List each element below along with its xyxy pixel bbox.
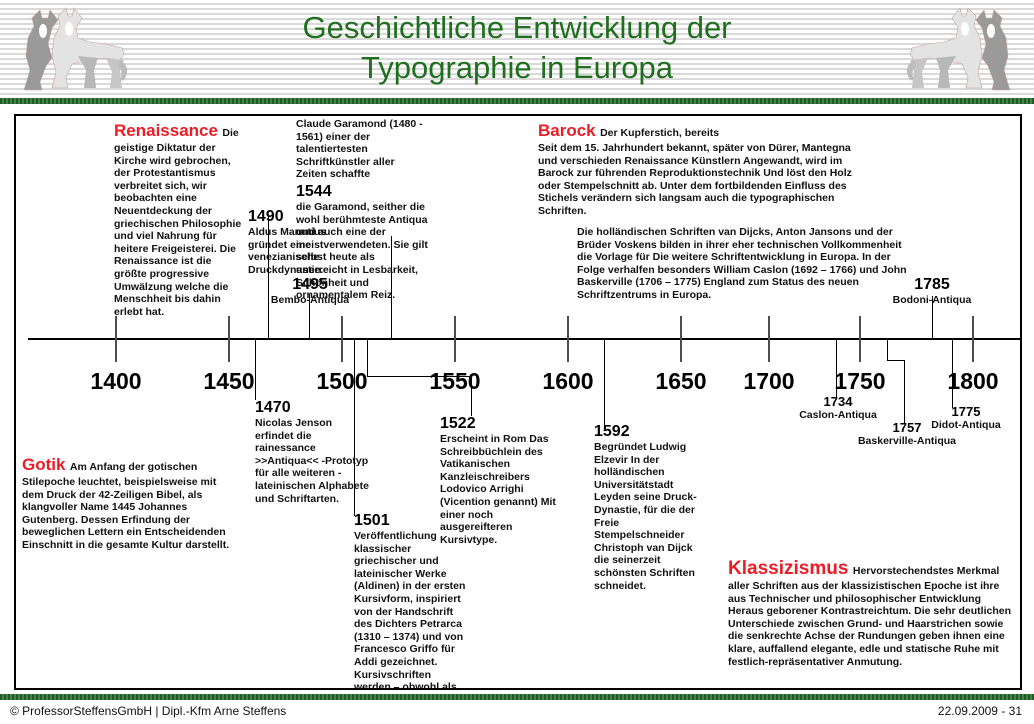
era-body-klassizismus: aller Schriften aus der klassizistischen… bbox=[728, 580, 1018, 668]
event-year-1470: 1470 bbox=[255, 399, 371, 417]
connector-1470 bbox=[255, 338, 256, 400]
connector-1522-stem bbox=[367, 338, 368, 376]
era-body-barock: Seit dem 15. Jahrhundert bekannt, später… bbox=[538, 142, 858, 218]
footer-copyright: © ProfessorSteffensGmbH | Dipl.-Kfm Arne… bbox=[10, 704, 286, 718]
event-caption-1757: Baskerville-Antiqua bbox=[854, 435, 960, 448]
event-year-1522: 1522 bbox=[440, 415, 560, 433]
era-title-renaissance: Renaissance bbox=[114, 121, 218, 140]
event-1592: 1592 Begründet Ludwig Elzevir In der hol… bbox=[594, 423, 710, 592]
footer-date-slide: 22.09.2009 - 31 bbox=[938, 704, 1022, 718]
block-klassizismus: Klassizismus Hervorstechendstes Merkmal … bbox=[728, 560, 1018, 668]
axis-tick-1450 bbox=[228, 316, 230, 362]
axis-tick-1500 bbox=[341, 316, 343, 362]
era-body-gotik: Stilepoche leuchtet, beispielsweise mit … bbox=[22, 476, 240, 552]
connector-1522-elbow bbox=[367, 376, 471, 377]
event-caption-1522: Erscheint in Rom Das Schreibbüchlein des… bbox=[440, 433, 560, 546]
axis-tick-1550 bbox=[454, 316, 456, 362]
decade-label-1600: 1600 bbox=[523, 368, 613, 395]
header-divider-rule bbox=[0, 98, 1034, 104]
event-year-1775: 1775 bbox=[920, 404, 1012, 419]
title-line-1: Geschichtliche Entwicklung der bbox=[160, 8, 874, 48]
event-caption-1592: Begründet Ludwig Elzevir In der holländi… bbox=[594, 441, 710, 592]
era-body-renaissance: geistige Diktatur der Kirche wird gebroc… bbox=[114, 142, 244, 318]
header-banner: Geschichtliche Entwicklung der Typograph… bbox=[0, 0, 1034, 98]
event-caption-1775: Didot-Antiqua bbox=[920, 419, 1012, 432]
event-1775: 1775 Didot-Antiqua bbox=[920, 404, 1012, 432]
era-tail-klassizismus: Hervorstechendstes Merkmal bbox=[853, 565, 999, 577]
block-dutch-types: Die holländischen Schriften van Dijcks, … bbox=[577, 226, 909, 302]
block-barock: Barock Der Kupferstich, bereits Seit dem… bbox=[538, 122, 858, 218]
event-caption-1785: Bodoni-Antiqua bbox=[884, 294, 980, 307]
dutch-body: Die holländischen Schriften van Dijcks, … bbox=[577, 226, 909, 302]
event-year-1734: 1734 bbox=[790, 394, 886, 409]
timeline-axis bbox=[28, 338, 1022, 340]
event-year-1592: 1592 bbox=[594, 423, 710, 441]
connector-1757-elbow bbox=[887, 360, 904, 361]
title-line-2: Typographie in Europa bbox=[160, 48, 874, 88]
era-tail-renaissance: Die bbox=[222, 127, 238, 139]
decade-label-1700: 1700 bbox=[724, 368, 814, 395]
event-1785: 1785 Bodoni-Antiqua bbox=[884, 276, 980, 307]
axis-tick-1750 bbox=[859, 316, 861, 362]
event-year-1785: 1785 bbox=[884, 276, 980, 294]
connector-1522-drop bbox=[471, 376, 472, 416]
axis-tick-1650 bbox=[680, 316, 682, 362]
decade-label-1650: 1650 bbox=[636, 368, 726, 395]
event-year-1544: 1544 bbox=[296, 183, 428, 201]
connector-1592 bbox=[604, 338, 605, 428]
event-1734: 1734 Caslon-Antiqua bbox=[790, 394, 886, 422]
event-1470: 1470 Nicolas Jenson erfindet die rainess… bbox=[255, 399, 371, 505]
decade-label-1800: 1800 bbox=[928, 368, 1018, 395]
connector-1734 bbox=[836, 338, 837, 398]
garamond-body: die Garamond, seither die wohl berühmtes… bbox=[296, 201, 428, 302]
footer-bar: © ProfessorSteffensGmbH | Dipl.-Kfm Arne… bbox=[0, 700, 1034, 724]
era-title-barock: Barock bbox=[538, 121, 596, 140]
connector-1757-drop bbox=[904, 360, 905, 424]
timeline-panel: 1400 1450 1500 1550 1600 1650 1700 1750 … bbox=[14, 114, 1022, 690]
feline-silhouette-pair-icon-right bbox=[904, 4, 1032, 96]
decade-label-1550: 1550 bbox=[410, 368, 500, 395]
axis-tick-1700 bbox=[768, 316, 770, 362]
event-caption-1501: Veröffentlichung klassischer griechische… bbox=[354, 530, 466, 690]
page-title: Geschichtliche Entwicklung der Typograph… bbox=[160, 8, 874, 88]
event-1522: 1522 Erscheint in Rom Das Schreibbüchlei… bbox=[440, 415, 560, 546]
axis-tick-1600 bbox=[567, 316, 569, 362]
event-caption-1470: Nicolas Jenson erfindet die rainessance … bbox=[255, 417, 371, 505]
decade-label-1400: 1400 bbox=[71, 368, 161, 395]
slide: Geschichtliche Entwicklung der Typograph… bbox=[0, 0, 1034, 724]
feline-silhouette-pair-icon-left bbox=[2, 4, 130, 96]
connector-1775 bbox=[952, 338, 953, 408]
era-tail-gotik: Am Anfang der gotischen bbox=[70, 461, 197, 473]
decade-label-1450: 1450 bbox=[184, 368, 274, 395]
garamond-intro: Claude Garamond (1480 - 1561) einer der … bbox=[296, 118, 428, 181]
era-tail-barock: Der Kupferstich, bereits bbox=[600, 127, 719, 139]
axis-tick-1400 bbox=[115, 316, 117, 362]
decade-label-1500: 1500 bbox=[297, 368, 387, 395]
decade-label-1750: 1750 bbox=[815, 368, 905, 395]
connector-1757-stem bbox=[887, 338, 888, 360]
era-title-klassizismus: Klassizismus bbox=[728, 558, 848, 579]
block-renaissance: Renaissance Die geistige Diktatur der Ki… bbox=[114, 122, 244, 318]
block-gotik: Gotik Am Anfang der gotischen Stilepoche… bbox=[22, 456, 240, 552]
era-title-gotik: Gotik bbox=[22, 455, 65, 474]
block-garamond: Claude Garamond (1480 - 1561) einer der … bbox=[296, 118, 428, 302]
axis-tick-1800 bbox=[972, 316, 974, 362]
